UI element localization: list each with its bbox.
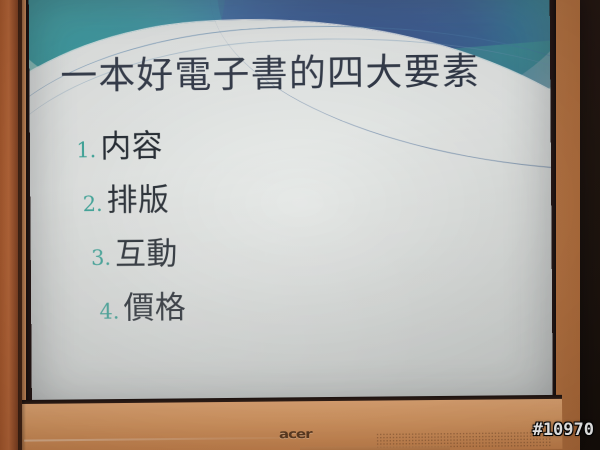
- list-item-number: 4.: [86, 299, 120, 323]
- list-item-label: 互動: [115, 228, 178, 274]
- photo-scene: 一本好電子書的四大要素 1. 内容 2. 排版 3. 互動 4. 價格: [0, 0, 600, 450]
- list-item-label: 價格: [123, 282, 186, 327]
- list-item-label: 排版: [106, 174, 169, 220]
- list-item: 2. 排版: [69, 170, 531, 220]
- left-wooden-frame-shadow: [18, 0, 26, 450]
- presentation-slide[interactable]: 一本好電子書的四大要素 1. 内容 2. 排版 3. 互動 4. 價格: [29, 0, 553, 411]
- image-watermark: #10970: [533, 420, 594, 440]
- acer-brand-logo: acer: [279, 426, 312, 441]
- list-item: 1. 内容: [62, 116, 530, 166]
- list-item-label: 内容: [100, 120, 163, 166]
- list-item-number: 2.: [69, 192, 103, 216]
- list-item: 4. 價格: [85, 278, 531, 327]
- list-item-number: 3.: [77, 245, 111, 269]
- monitor-stand: [300, 445, 450, 450]
- slide-bullet-list: 1. 内容 2. 排版 3. 互動 4. 價格: [50, 116, 531, 337]
- list-item-number: 1.: [62, 138, 96, 162]
- monitor-screen[interactable]: 一本好電子書的四大要素 1. 内容 2. 排版 3. 互動 4. 價格: [29, 0, 553, 411]
- slide-title: 一本好電子書的四大要素: [60, 51, 529, 97]
- list-item: 3. 互動: [77, 224, 531, 274]
